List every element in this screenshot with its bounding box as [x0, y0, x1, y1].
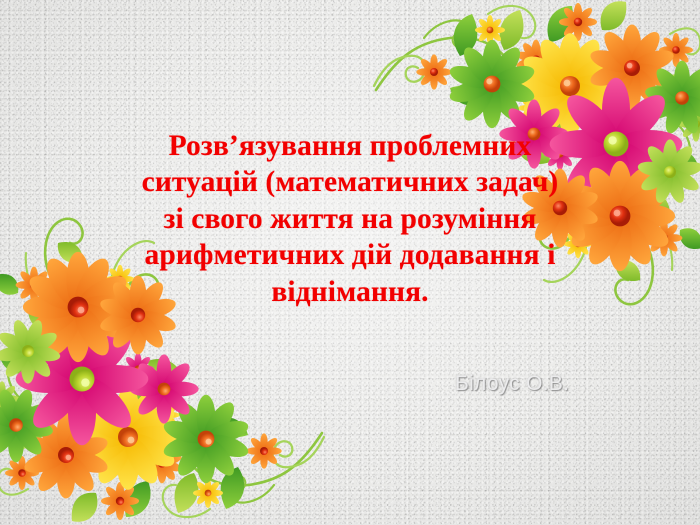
title-line-3: зі свого життя на розуміння	[88, 201, 612, 237]
title-line-2: ситуацій (математичних задач)	[88, 164, 612, 200]
title-line-1: Розв’язування проблемних	[88, 128, 612, 164]
slide-canvas: Розв’язування проблемних ситуацій (матем…	[0, 0, 700, 525]
title-line-4: арифметичних дій додавання і	[88, 237, 612, 273]
author-name: Білоус О.В.	[455, 372, 569, 396]
title-line-5: віднімання.	[88, 274, 612, 310]
slide-title: Розв’язування проблемних ситуацій (матем…	[88, 128, 612, 310]
